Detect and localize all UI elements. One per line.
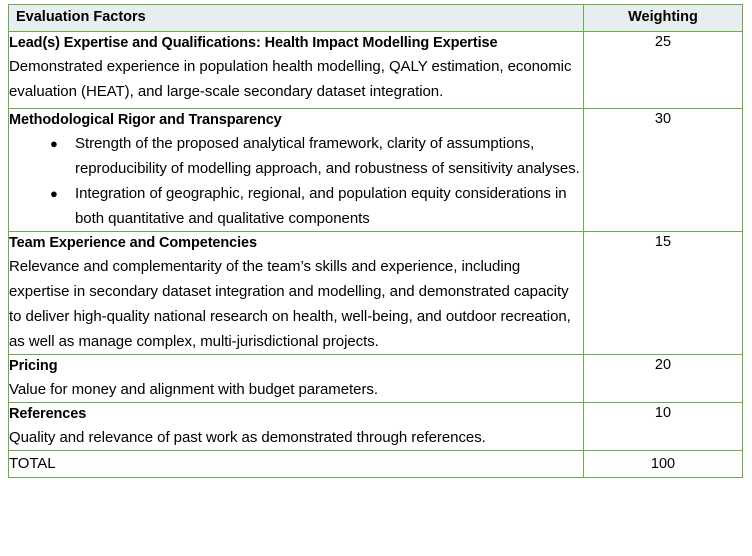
list-item-label: Strength of the proposed analytical fram… xyxy=(75,135,580,177)
factor-bullet-list: ● Strength of the proposed analytical fr… xyxy=(9,131,583,231)
factor-title: Team Experience and Competencies xyxy=(9,232,583,254)
factor-description: Relevance and complementarity of the tea… xyxy=(9,254,583,354)
evaluation-factors-table: Evaluation Factors Weighting Lead(s) Exp… xyxy=(8,4,743,478)
table-row: Pricing Value for money and alignment wi… xyxy=(9,355,743,403)
factor-title: Lead(s) Expertise and Qualifications: He… xyxy=(9,32,583,54)
weighting-cell: 10 xyxy=(584,403,743,451)
weighting-cell: 25 xyxy=(584,32,743,109)
factor-description: Quality and relevance of past work as de… xyxy=(9,425,583,450)
bullet-icon: ● xyxy=(50,131,60,156)
column-header-weighting-label: Weighting xyxy=(584,5,742,30)
factor-title: References xyxy=(9,403,583,425)
column-header-weighting: Weighting xyxy=(584,5,743,32)
table-header-row: Evaluation Factors Weighting xyxy=(9,5,743,32)
table-row: Lead(s) Expertise and Qualifications: He… xyxy=(9,32,743,109)
list-item: ● Strength of the proposed analytical fr… xyxy=(9,131,583,181)
table-total-row: TOTAL 100 xyxy=(9,451,743,478)
factor-cell: Lead(s) Expertise and Qualifications: He… xyxy=(9,32,584,109)
factor-cell: Team Experience and Competencies Relevan… xyxy=(9,232,584,355)
total-weighting-cell: 100 xyxy=(584,451,743,478)
column-header-evaluation-factors: Evaluation Factors xyxy=(9,5,584,32)
list-item: ● Integration of geographic, regional, a… xyxy=(9,181,583,231)
list-item-label: Integration of geographic, regional, and… xyxy=(75,185,567,227)
table-row: Methodological Rigor and Transparency ● … xyxy=(9,109,743,232)
factor-description: Demonstrated experience in population he… xyxy=(9,54,583,104)
weighting-cell: 15 xyxy=(584,232,743,355)
weighting-cell: 30 xyxy=(584,109,743,232)
factor-cell: References Quality and relevance of past… xyxy=(9,403,584,451)
table-row: References Quality and relevance of past… xyxy=(9,403,743,451)
total-label-cell: TOTAL xyxy=(9,451,584,478)
factor-cell: Methodological Rigor and Transparency ● … xyxy=(9,109,584,232)
weighting-cell: 20 xyxy=(584,355,743,403)
factor-description: Value for money and alignment with budge… xyxy=(9,377,583,402)
bullet-icon: ● xyxy=(50,181,60,206)
factor-title: Pricing xyxy=(9,355,583,377)
column-header-evaluation-factors-label: Evaluation Factors xyxy=(9,5,583,30)
total-label: TOTAL xyxy=(9,453,583,475)
factor-title: Methodological Rigor and Transparency xyxy=(9,109,583,131)
factor-cell: Pricing Value for money and alignment wi… xyxy=(9,355,584,403)
table-row: Team Experience and Competencies Relevan… xyxy=(9,232,743,355)
document-canvas: Evaluation Factors Weighting Lead(s) Exp… xyxy=(0,0,752,556)
